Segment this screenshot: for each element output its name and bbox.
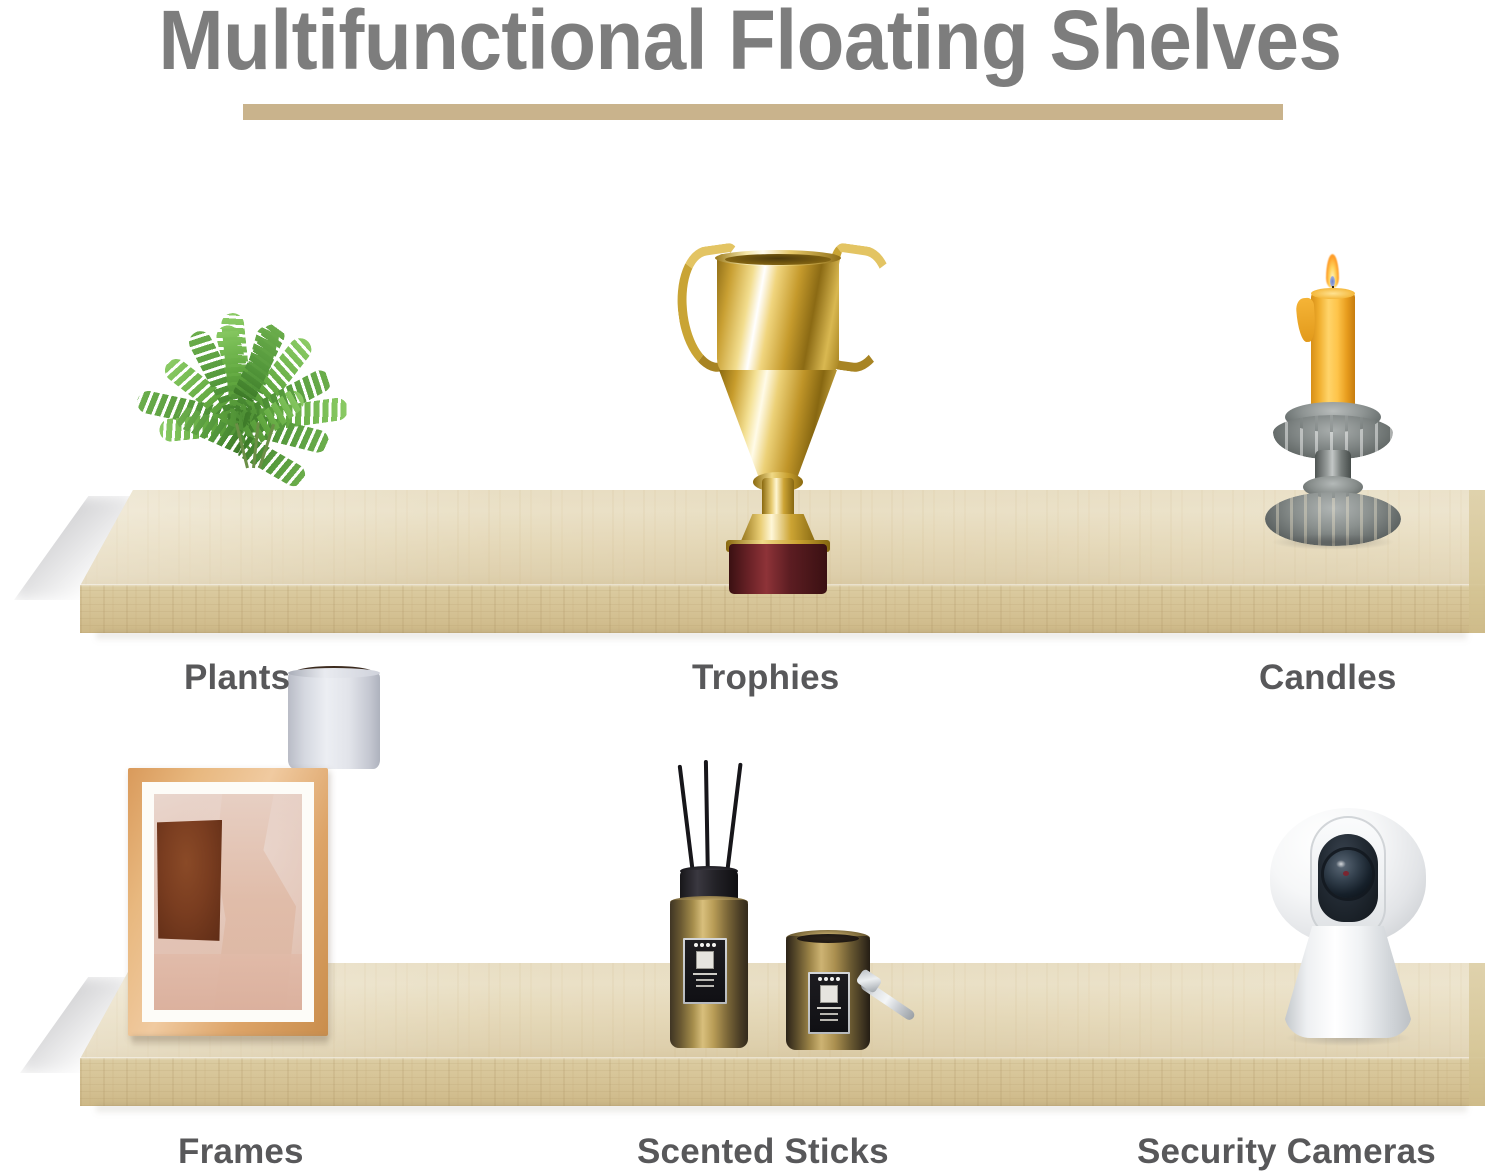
diffuser-product-label: [683, 938, 727, 1004]
shelf-front-edge: [80, 1058, 1485, 1106]
gold-trophy: [672, 228, 882, 568]
plant-pot: [288, 671, 380, 769]
artwork-shape-band: [154, 954, 302, 1010]
shelf-label-candles: Candles: [1259, 658, 1397, 698]
camera-lens-glint: [1336, 860, 1346, 868]
shelf-right-endcap: [1469, 490, 1485, 633]
candle-top: [1311, 288, 1355, 299]
trophy-cup-taper: [719, 370, 837, 485]
trophy-base: [729, 544, 827, 594]
camera-base: [1284, 926, 1412, 1038]
title-underline-rule: [243, 104, 1283, 120]
diffuser-reed: [678, 765, 696, 883]
candle-jar-wax: [797, 934, 859, 943]
frame-border: [128, 768, 328, 1036]
diffuser-reed: [704, 760, 710, 882]
shelf-label-frames: Frames: [178, 1132, 304, 1172]
page-header: Multifunctional Floating Shelves: [0, 0, 1500, 150]
label-textline: [820, 1013, 838, 1015]
plant-foliage: [98, 236, 398, 466]
page-title: Multifunctional Floating Shelves: [158, 0, 1341, 89]
label-dots: [818, 977, 840, 981]
label-dots: [694, 943, 716, 947]
label-textline: [693, 973, 717, 975]
diffuser-reed: [724, 763, 743, 883]
frame-contact-shadow: [132, 1036, 328, 1048]
candle-body: [1311, 292, 1355, 412]
candleholder-contact-shadow: [1271, 534, 1395, 550]
label-emblem: [820, 985, 838, 1003]
label-textline: [817, 1007, 841, 1009]
artwork-shape-dark: [157, 820, 222, 941]
shelf-label-security-cameras: Security Cameras: [1137, 1132, 1436, 1172]
diffuser-label-face: [685, 940, 725, 1002]
picture-frame: [128, 768, 328, 1036]
shelf-underside-shadow: [96, 632, 1467, 642]
frame-artwork: [154, 794, 302, 1010]
label-emblem: [696, 951, 714, 969]
candle-jar-product-label: [808, 972, 850, 1034]
shelf-label-scented-sticks: Scented Sticks: [637, 1132, 889, 1172]
label-textline: [696, 985, 714, 987]
label-textline: [820, 1019, 838, 1021]
shelf-right-endcap: [1469, 963, 1485, 1106]
pan-tilt-security-camera: [1248, 808, 1458, 1056]
potted-plant: [98, 236, 398, 526]
candle-in-holder: [1255, 250, 1435, 580]
shelf-label-trophies: Trophies: [692, 658, 839, 698]
label-textline: [696, 979, 714, 981]
shelf-underside-shadow: [96, 1105, 1467, 1115]
camera-ir-indicator: [1343, 871, 1349, 876]
jar-label-face: [810, 974, 848, 1032]
reed-diffuser-set: [648, 760, 913, 1050]
trophy-cup-interior: [725, 254, 831, 265]
shelf-label-plants: Plants: [184, 658, 290, 698]
trophy-cup-bowl: [717, 254, 839, 379]
shelf-edge-highlight: [80, 1057, 1485, 1060]
